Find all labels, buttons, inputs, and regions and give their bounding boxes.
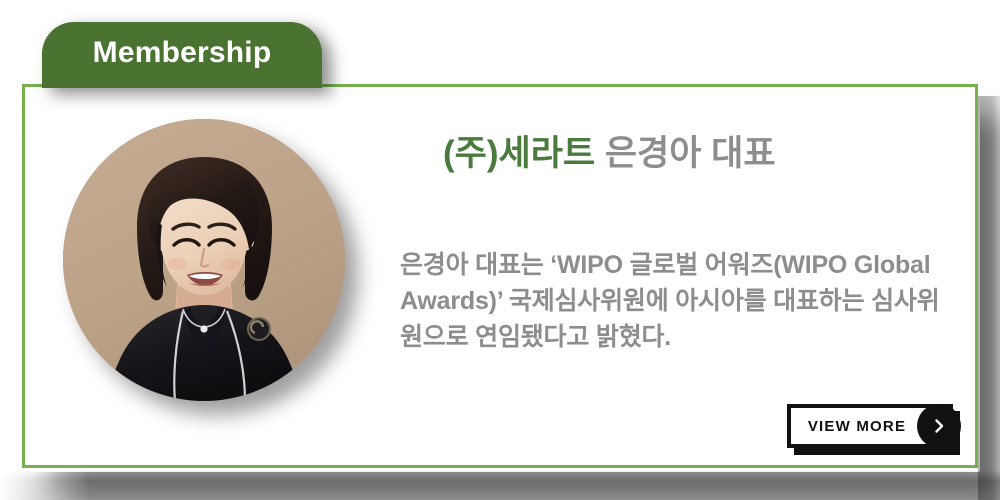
membership-banner: Membership xyxy=(0,0,1000,500)
page-title-company: (주)세라트 xyxy=(443,134,595,173)
page-title-person: 은경아 대표 xyxy=(595,134,775,173)
avatar xyxy=(63,119,345,401)
section-tab-label: Membership xyxy=(93,38,272,68)
portrait-illustration xyxy=(63,119,345,401)
page-title: (주)세라트 은경아 대표 xyxy=(443,133,776,174)
chevron-right-glyph xyxy=(931,418,947,434)
section-tab-membership[interactable]: Membership xyxy=(42,22,322,88)
card-description: 은경아 대표는 ‘WIPO 글로벌 어워즈(WIPO Global Awards… xyxy=(400,247,945,355)
right-shadow-band xyxy=(978,96,1000,500)
view-more-button[interactable]: VIEW MORE xyxy=(787,404,953,448)
bottom-shadow-band xyxy=(0,470,1000,500)
view-more-label: VIEW MORE xyxy=(787,404,927,448)
chevron-right-icon[interactable] xyxy=(917,404,961,448)
